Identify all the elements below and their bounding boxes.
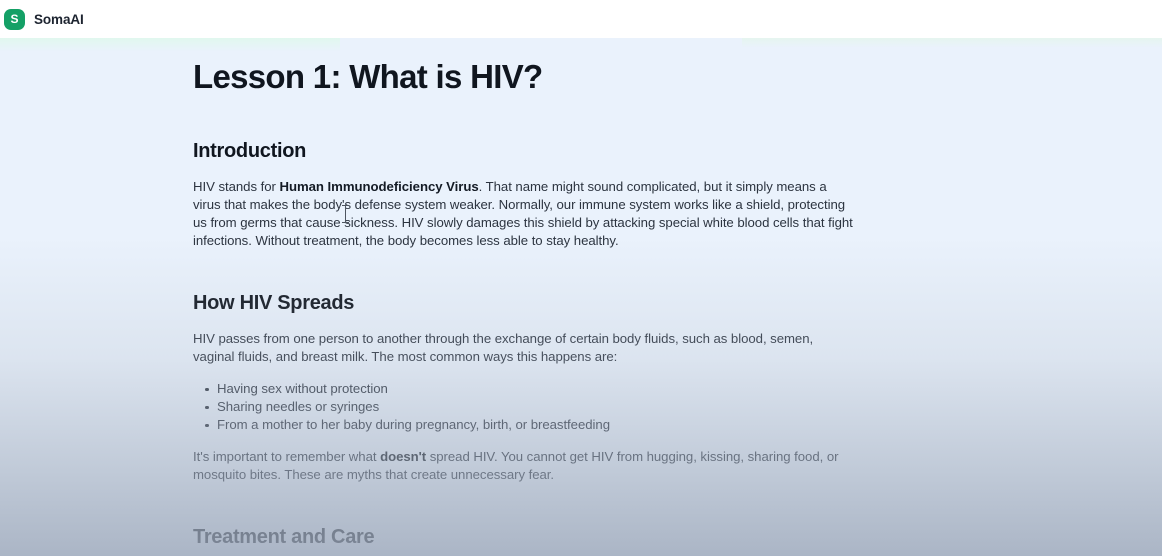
list-item: Having sex without protection: [217, 380, 853, 398]
run-text-bold: doesn't: [380, 449, 426, 464]
lesson-document: Lesson 1: What is HIV? Introduction HIV …: [0, 38, 1162, 556]
brand-logo-link[interactable]: S SomaAI: [4, 9, 84, 30]
page-title: Lesson 1: What is HIV?: [193, 56, 853, 98]
run-text: HIV stands for: [193, 179, 279, 194]
section-heading-introduction: Introduction: [193, 138, 853, 164]
paragraph-introduction: HIV stands for Human Immunodeficiency Vi…: [193, 178, 853, 250]
app-window: S SomaAI Lesson 1: What is HIV? Introduc…: [0, 0, 1162, 556]
section-heading-how-hiv-spreads: How HIV Spreads: [193, 290, 853, 316]
list-item: Sharing needles or syringes: [217, 398, 853, 416]
paragraph-myths: It's important to remember what doesn't …: [193, 448, 853, 484]
document-column: Lesson 1: What is HIV? Introduction HIV …: [193, 56, 853, 556]
run-text: It's important to remember what: [193, 449, 380, 464]
transmission-list: Having sex without protection Sharing ne…: [193, 380, 853, 434]
run-text: HIV passes from one person to another th…: [193, 331, 813, 364]
somaai-logo-icon: S: [4, 9, 25, 30]
section-heading-treatment-and-care: Treatment and Care: [193, 524, 853, 550]
brand-name-label: SomaAI: [34, 12, 84, 27]
paragraph-how-hiv-spreads: HIV passes from one person to another th…: [193, 330, 853, 366]
top-bar: S SomaAI: [0, 0, 1162, 38]
page-surface: Lesson 1: What is HIV? Introduction HIV …: [0, 38, 1162, 556]
run-text-bold: Human Immunodeficiency Virus: [279, 179, 478, 194]
list-item: From a mother to her baby during pregnan…: [217, 416, 853, 434]
